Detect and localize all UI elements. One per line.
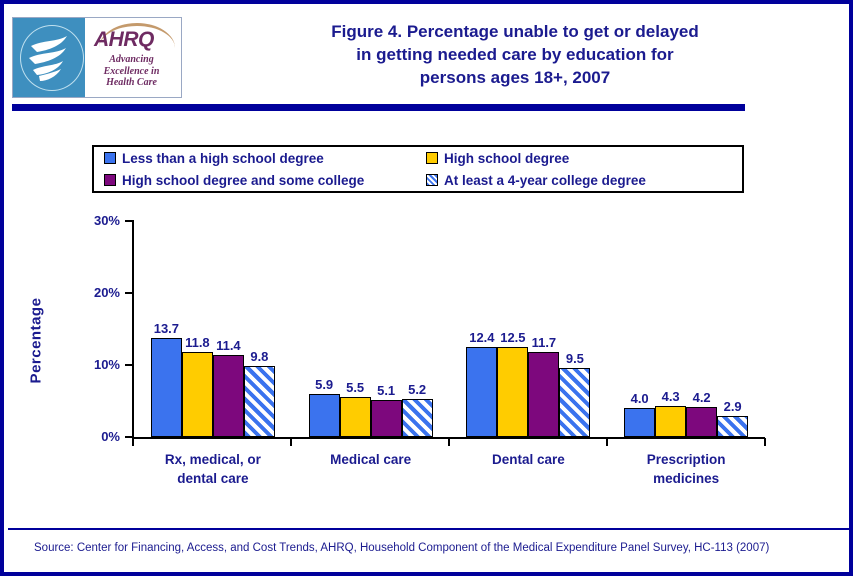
y-tick-10	[125, 364, 133, 366]
ahrq-tagline-line-3: Health Care	[85, 77, 178, 89]
x-category-3: Prescription medicines	[607, 450, 765, 488]
bar-groups: 13.7 11.8 11.4 9.8 5.9 5.5	[134, 220, 765, 437]
bar-label-1-2: 12.5	[500, 330, 525, 345]
bar-label-0-3: 4.0	[631, 391, 649, 406]
legend-item-1: High school degree	[426, 147, 742, 169]
y-tick-20	[125, 292, 133, 294]
x-category-2: Dental care	[450, 450, 608, 488]
figure-title-line-2: in getting needed care by education for	[190, 43, 840, 66]
x-category-1-line-1: Medical care	[292, 450, 450, 469]
bar-1-2[interactable]: 12.5	[497, 347, 528, 437]
legend-item-0: Less than a high school degree	[104, 147, 426, 169]
chart-legend: Less than a high school degree High scho…	[92, 145, 744, 193]
legend-swatch-purple-icon	[104, 174, 116, 186]
hhs-seal-icon	[13, 18, 85, 97]
legend-swatch-gold-icon	[426, 152, 438, 164]
figure-page: AHRQ Advancing Excellence in Health Care…	[0, 0, 853, 576]
bar-label-2-3: 4.2	[693, 390, 711, 405]
bar-group-0: 13.7 11.8 11.4 9.8	[134, 220, 292, 437]
bar-label-1-3: 4.3	[662, 389, 680, 404]
hhs-eagle-icon	[25, 30, 75, 86]
bar-2-0[interactable]: 11.4	[213, 355, 244, 437]
x-category-3-line-2: medicines	[607, 469, 765, 488]
x-category-0-line-1: Rx, medical, or	[134, 450, 292, 469]
y-tick-30	[125, 220, 133, 222]
bar-label-3-1: 5.2	[408, 382, 426, 397]
legend-label-3: At least a 4-year college degree	[444, 173, 646, 188]
x-category-1: Medical care	[292, 450, 450, 488]
bar-0-3[interactable]: 4.0	[624, 408, 655, 437]
x-tick-0	[132, 438, 134, 446]
ahrq-wordmark: AHRQ Advancing Excellence in Health Care	[85, 18, 181, 97]
bar-1-0[interactable]: 11.8	[182, 352, 213, 437]
x-category-0: Rx, medical, or dental care	[134, 450, 292, 488]
ahrq-acronym: AHRQ	[94, 28, 154, 52]
ahrq-tagline: Advancing Excellence in Health Care	[85, 54, 178, 89]
legend-label-0: Less than a high school degree	[122, 151, 324, 166]
x-tick-1	[290, 438, 292, 446]
bar-3-3[interactable]: 2.9	[717, 416, 748, 437]
legend-swatch-hatch-icon	[426, 174, 438, 186]
bar-1-1[interactable]: 5.5	[340, 397, 371, 437]
bar-label-3-0: 9.8	[250, 349, 268, 364]
bar-label-2-2: 11.7	[532, 335, 557, 350]
x-category-3-line-1: Prescription	[607, 450, 765, 469]
ahrq-tagline-line-1: Advancing	[85, 54, 178, 66]
figure-title-line-1: Figure 4. Percentage unable to get or de…	[190, 20, 840, 43]
bar-label-3-2: 9.5	[566, 351, 584, 366]
bar-label-1-1: 5.5	[346, 380, 364, 395]
bar-label-0-2: 12.4	[469, 330, 494, 345]
legend-item-2: High school degree and some college	[104, 169, 426, 191]
x-tick-2	[448, 438, 450, 446]
bar-label-0-0: 13.7	[154, 321, 179, 336]
legend-item-3: At least a 4-year college degree	[426, 169, 742, 191]
bar-label-2-1: 5.1	[377, 383, 395, 398]
footer-divider	[8, 528, 849, 530]
x-axis-categories: Rx, medical, or dental care Medical care…	[134, 450, 765, 488]
x-tick-3	[606, 438, 608, 446]
legend-label-2: High school degree and some college	[122, 173, 364, 188]
y-tick-label-30: 30%	[72, 213, 120, 228]
x-tick-4	[764, 438, 766, 446]
bar-1-3[interactable]: 4.3	[655, 406, 686, 437]
bar-2-2[interactable]: 11.7	[528, 352, 559, 437]
bar-3-0[interactable]: 9.8	[244, 366, 275, 437]
figure-header: AHRQ Advancing Excellence in Health Care…	[4, 4, 849, 101]
bar-2-3[interactable]: 4.2	[686, 407, 717, 437]
bar-group-2: 12.4 12.5 11.7 9.5	[450, 220, 608, 437]
y-tick-label-20: 20%	[72, 285, 120, 300]
chart-plot-area: Percentage 30% 20% 10% 0% 13.7 11.8	[4, 204, 849, 504]
x-category-2-line-1: Dental care	[450, 450, 608, 469]
header-divider	[12, 104, 745, 111]
ahrq-logo: AHRQ Advancing Excellence in Health Care	[12, 17, 182, 98]
bar-label-1-0: 11.8	[185, 335, 210, 350]
y-tick-label-10: 10%	[72, 357, 120, 372]
bar-0-2[interactable]: 12.4	[466, 347, 497, 437]
bar-0-0[interactable]: 13.7	[151, 338, 182, 437]
source-note: Source: Center for Financing, Access, an…	[34, 542, 769, 554]
bar-group-1: 5.9 5.5 5.1 5.2	[292, 220, 450, 437]
bar-label-0-1: 5.9	[315, 377, 333, 392]
bar-group-3: 4.0 4.3 4.2 2.9	[607, 220, 765, 437]
bar-label-3-3: 2.9	[724, 399, 742, 414]
x-category-0-line-2: dental care	[134, 469, 292, 488]
ahrq-tagline-line-2: Excellence in	[85, 66, 178, 78]
y-tick-label-0: 0%	[72, 429, 120, 444]
bar-0-1[interactable]: 5.9	[309, 394, 340, 437]
bar-label-2-0: 11.4	[216, 338, 241, 353]
bar-3-2[interactable]: 9.5	[559, 368, 590, 437]
legend-label-1: High school degree	[444, 151, 569, 166]
legend-swatch-blue-icon	[104, 152, 116, 164]
bar-2-1[interactable]: 5.1	[371, 400, 402, 437]
y-axis-title: Percentage	[28, 271, 45, 411]
figure-title-line-3: persons ages 18+, 2007	[190, 66, 840, 89]
bar-3-1[interactable]: 5.2	[402, 399, 433, 437]
figure-title: Figure 4. Percentage unable to get or de…	[190, 20, 840, 89]
